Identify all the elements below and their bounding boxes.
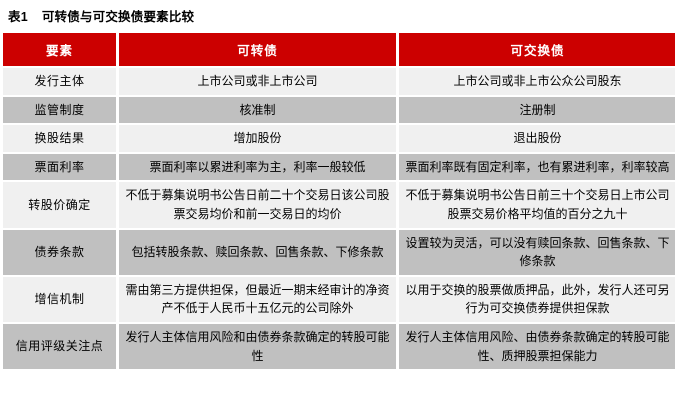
row-label-cell: 增信机制	[3, 277, 116, 322]
table-cell: 票面利率以累进利率为主，利率一般较低	[119, 154, 396, 181]
column-header-convertible-bond: 可转债	[119, 33, 396, 66]
table-row: 换股结果增加股份退出股份	[3, 125, 675, 152]
table-cell: 增加股份	[119, 125, 396, 152]
row-label-cell: 转股价确定	[3, 182, 116, 227]
caption-label: 表	[8, 10, 21, 24]
row-label-cell: 信用评级关注点	[3, 324, 116, 369]
table-header-row: 要素 可转债 可交换债	[3, 33, 675, 66]
table-row: 票面利率票面利率以累进利率为主，利率一般较低票面利率既有固定利率，也有累进利率，…	[3, 154, 675, 181]
table-cell: 发行人主体信用风险、由债券条款确定的转股可能性、质押股票担保能力	[399, 324, 675, 369]
table-page: 表1可转债与可交换债要素比较 要素 可转债 可交换债 发行主体上市公司或非上市公…	[0, 0, 675, 401]
row-label-cell: 监管制度	[3, 97, 116, 124]
table-cell: 需由第三方提供担保，但最近一期末经审计的净资产不低于人民币十五亿元的公司除外	[119, 277, 396, 322]
table-cell: 退出股份	[399, 125, 675, 152]
table-cell: 不低于募集说明书公告日前三十个交易日上市公司股票交易价格平均值的百分之九十	[399, 182, 675, 227]
caption-title: 可转债与可交换债要素比较	[42, 10, 194, 24]
table-row: 监管制度核准制注册制	[3, 97, 675, 124]
column-header-exchangeable-bond: 可交换债	[399, 33, 675, 66]
table-cell: 核准制	[119, 97, 396, 124]
row-label-cell: 债券条款	[3, 230, 116, 275]
table-cell: 发行人主体信用风险和由债券条款确定的转股可能性	[119, 324, 396, 369]
table-row: 债券条款包括转股条款、赎回条款、回售条款、下修条款设置较为灵活，可以没有赎回条款…	[3, 230, 675, 275]
table-body: 发行主体上市公司或非上市公司上市公司或非上市公众公司股东监管制度核准制注册制换股…	[3, 68, 675, 369]
table-cell: 包括转股条款、赎回条款、回售条款、下修条款	[119, 230, 396, 275]
table-caption: 表1可转债与可交换债要素比较	[0, 0, 675, 31]
comparison-table: 要素 可转债 可交换债 发行主体上市公司或非上市公司上市公司或非上市公众公司股东…	[0, 31, 675, 371]
table-cell: 上市公司或非上市公众公司股东	[399, 68, 675, 95]
table-cell: 注册制	[399, 97, 675, 124]
table-cell: 以用于交换的股票做质押品，此外，发行人还可另行为可交换债券提供担保款	[399, 277, 675, 322]
table-row: 转股价确定不低于募集说明书公告日前二十个交易日该公司股票交易均价和前一交易日的均…	[3, 182, 675, 227]
table-row: 信用评级关注点发行人主体信用风险和由债券条款确定的转股可能性发行人主体信用风险、…	[3, 324, 675, 369]
row-label-cell: 换股结果	[3, 125, 116, 152]
table-cell: 票面利率既有固定利率，也有累进利率，利率较高	[399, 154, 675, 181]
table-cell: 不低于募集说明书公告日前二十个交易日该公司股票交易均价和前一交易日的均价	[119, 182, 396, 227]
table-cell: 上市公司或非上市公司	[119, 68, 396, 95]
table-row: 增信机制需由第三方提供担保，但最近一期末经审计的净资产不低于人民币十五亿元的公司…	[3, 277, 675, 322]
row-label-cell: 发行主体	[3, 68, 116, 95]
column-header-element: 要素	[3, 33, 116, 66]
table-row: 发行主体上市公司或非上市公司上市公司或非上市公众公司股东	[3, 68, 675, 95]
row-label-cell: 票面利率	[3, 154, 116, 181]
table-cell: 设置较为灵活，可以没有赎回条款、回售条款、下修条款	[399, 230, 675, 275]
caption-number: 1	[21, 10, 28, 24]
